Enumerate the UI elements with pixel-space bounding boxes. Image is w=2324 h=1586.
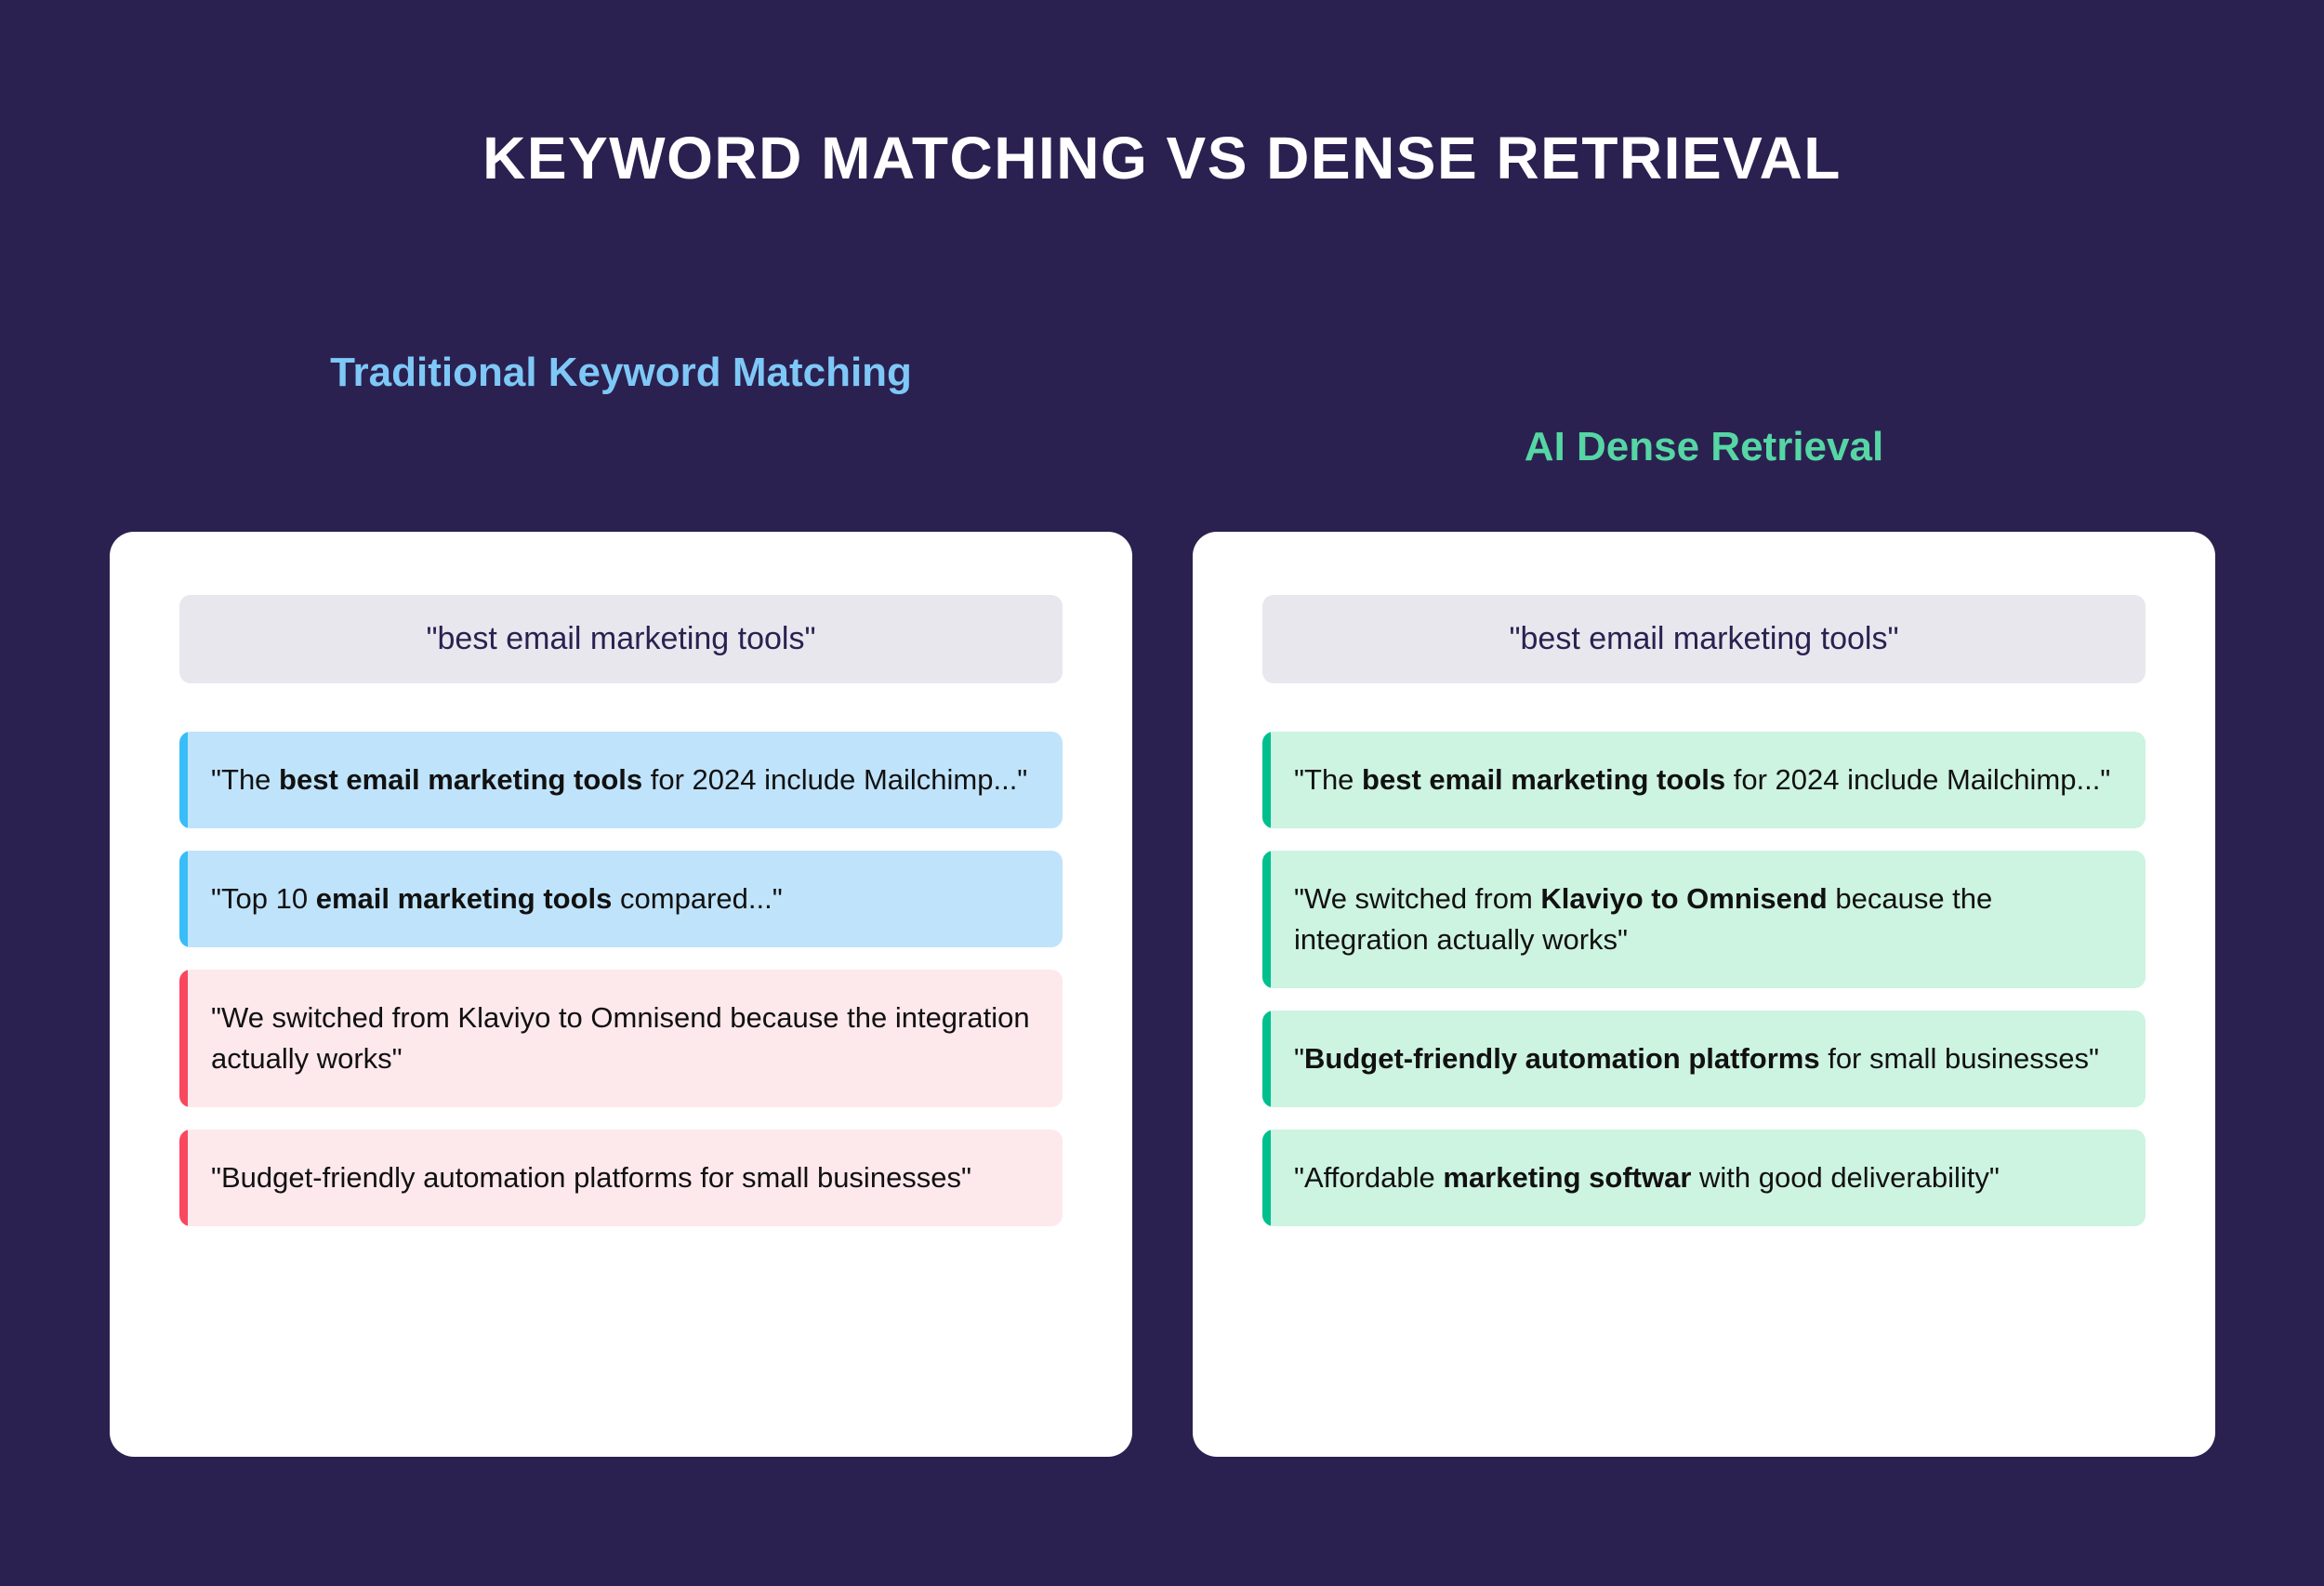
result-list-right: "The best email marketing tools for 2024… bbox=[1262, 732, 2146, 1226]
result-highlight: best email marketing tools bbox=[1362, 763, 1725, 796]
column-ai-dense-retrieval: AI Dense Retrieval "best email marketing… bbox=[1193, 0, 2215, 1586]
result-highlight: best email marketing tools bbox=[279, 763, 642, 796]
panel-right: "best email marketing tools" "The best e… bbox=[1193, 532, 2215, 1457]
query-text-right: "best email marketing tools" bbox=[1509, 621, 1898, 657]
column-heading-right: AI Dense Retrieval bbox=[1193, 423, 2215, 471]
result-item: "Top 10 email marketing tools compared..… bbox=[179, 851, 1063, 947]
result-list-left: "The best email marketing tools for 2024… bbox=[179, 732, 1063, 1226]
result-text: "Budget-friendly automation platforms fo… bbox=[211, 1161, 971, 1194]
result-text: for small businesses" bbox=[1820, 1042, 2099, 1075]
result-text: compared..." bbox=[612, 882, 782, 915]
result-highlight: marketing softwar bbox=[1443, 1161, 1691, 1194]
result-highlight: email marketing tools bbox=[316, 882, 613, 915]
panel-left: "best email marketing tools" "The best e… bbox=[110, 532, 1132, 1457]
result-item: "Affordable marketing softwar with good … bbox=[1262, 1130, 2146, 1226]
result-text: for 2024 include Mailchimp..." bbox=[642, 763, 1027, 796]
result-text: "Top 10 bbox=[211, 882, 316, 915]
result-item: "We switched from Klaviyo to Omnisend be… bbox=[179, 970, 1063, 1107]
result-text: "Affordable bbox=[1294, 1161, 1443, 1194]
result-item: "We switched from Klaviyo to Omnisend be… bbox=[1262, 851, 2146, 988]
comparison-columns: Traditional Keyword Matching "best email… bbox=[0, 0, 2324, 1586]
result-item: "Budget-friendly automation platforms fo… bbox=[179, 1130, 1063, 1226]
result-text: "The bbox=[1294, 763, 1362, 796]
result-text: " bbox=[1294, 1042, 1304, 1075]
result-text: with good deliverability" bbox=[1691, 1161, 2000, 1194]
result-item: "The best email marketing tools for 2024… bbox=[1262, 732, 2146, 828]
result-item: "The best email marketing tools for 2024… bbox=[179, 732, 1063, 828]
query-box-right: "best email marketing tools" bbox=[1262, 595, 2146, 683]
result-text: for 2024 include Mailchimp..." bbox=[1725, 763, 2110, 796]
result-item: "Budget-friendly automation platforms fo… bbox=[1262, 1011, 2146, 1107]
column-traditional-keyword-matching: Traditional Keyword Matching "best email… bbox=[110, 0, 1132, 1586]
result-text: "The bbox=[211, 763, 279, 796]
result-highlight: Budget-friendly automation platforms bbox=[1304, 1042, 1820, 1075]
query-box-left: "best email marketing tools" bbox=[179, 595, 1063, 683]
result-text: "We switched from Klaviyo to Omnisend be… bbox=[211, 1001, 1030, 1075]
result-highlight: Klaviyo to Omnisend bbox=[1540, 882, 1827, 915]
query-text-left: "best email marketing tools" bbox=[426, 621, 815, 657]
column-heading-left: Traditional Keyword Matching bbox=[110, 349, 1132, 397]
result-text: "We switched from bbox=[1294, 882, 1540, 915]
